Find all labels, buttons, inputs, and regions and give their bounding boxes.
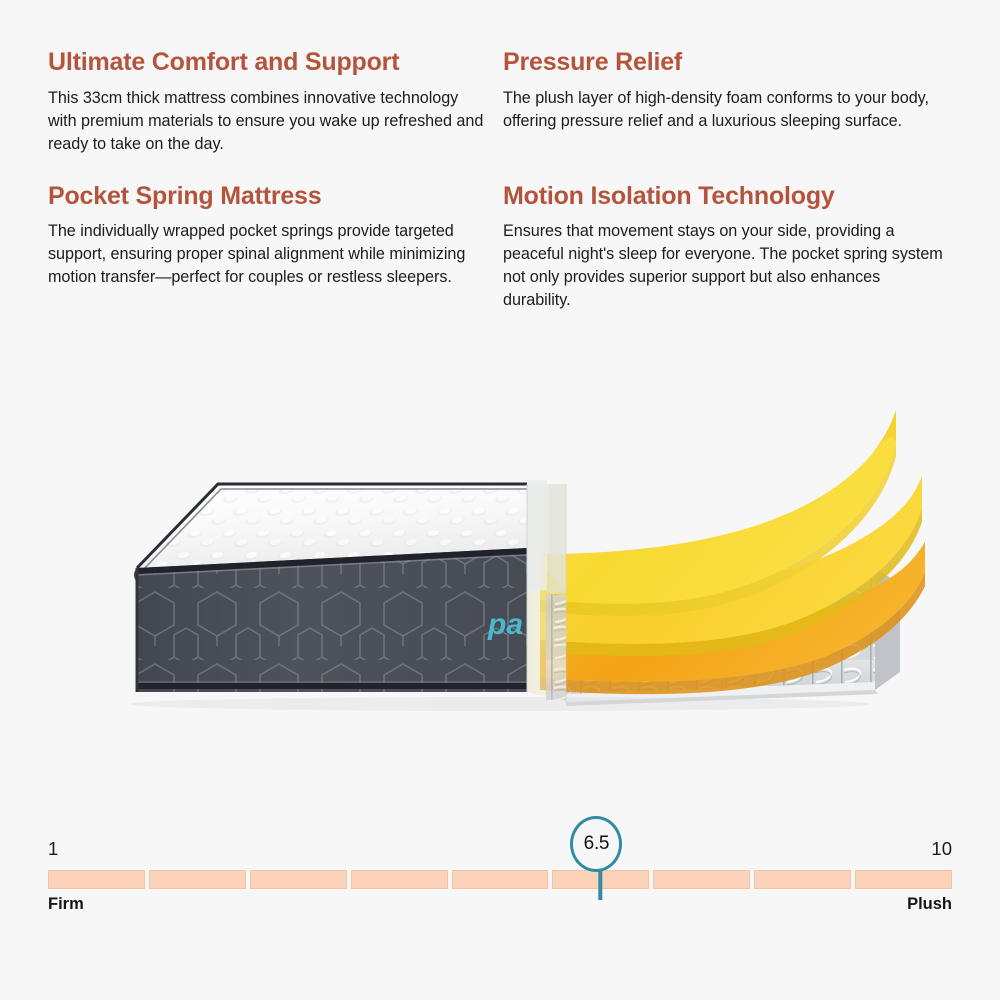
scale-segment[interactable] [351,870,448,889]
feature-body: Ensures that movement stays on your side… [503,220,943,312]
mattress-cutaway-illustration: pa [0,372,1000,762]
scale-segment[interactable] [653,870,750,889]
cross-section-band [527,480,566,702]
scale-segment[interactable] [452,870,549,889]
mattress-body: pa [130,477,530,702]
scale-segment[interactable] [754,870,851,889]
scale-segment[interactable] [48,870,145,889]
feature-title: Pocket Spring Mattress [48,182,488,212]
scale-min-value: 1 [48,840,58,859]
feature-body: The plush layer of high-density foam con… [503,87,943,133]
scale-label-plush: Plush [907,896,952,913]
feature-block-pressure-relief: Pressure Relief The plush layer of high-… [503,48,943,156]
feature-title: Motion Isolation Technology [503,182,943,212]
scale-segment[interactable] [149,870,246,889]
feature-body: The individually wrapped pocket springs … [48,220,488,289]
feature-block-motion-isolation-technology: Motion Isolation Technology Ensures that… [503,182,943,313]
feature-title: Ultimate Comfort and Support [48,48,488,78]
scale-label-firm: Firm [48,896,84,913]
brand-logo-text: pa [487,608,523,641]
product-infographic: Ultimate Comfort and Support This 33cm t… [0,0,1000,1000]
feature-grid: Ultimate Comfort and Support This 33cm t… [48,48,958,312]
firmness-scale: 1 10 6.5 Firm Plush [48,832,952,932]
scale-segment[interactable] [552,870,649,889]
scale-max-value: 10 [931,840,952,859]
feature-title: Pressure Relief [503,48,943,78]
feature-block-pocket-spring-mattress: Pocket Spring Mattress The individually … [48,182,488,313]
feature-body: This 33cm thick mattress combines innova… [48,87,488,156]
feature-block-ultimate-comfort-and-support: Ultimate Comfort and Support This 33cm t… [48,48,488,156]
firmness-rating-value: 6.5 [570,816,622,872]
scale-track[interactable] [48,870,952,889]
scale-segment[interactable] [855,870,952,889]
scale-segment[interactable] [250,870,347,889]
